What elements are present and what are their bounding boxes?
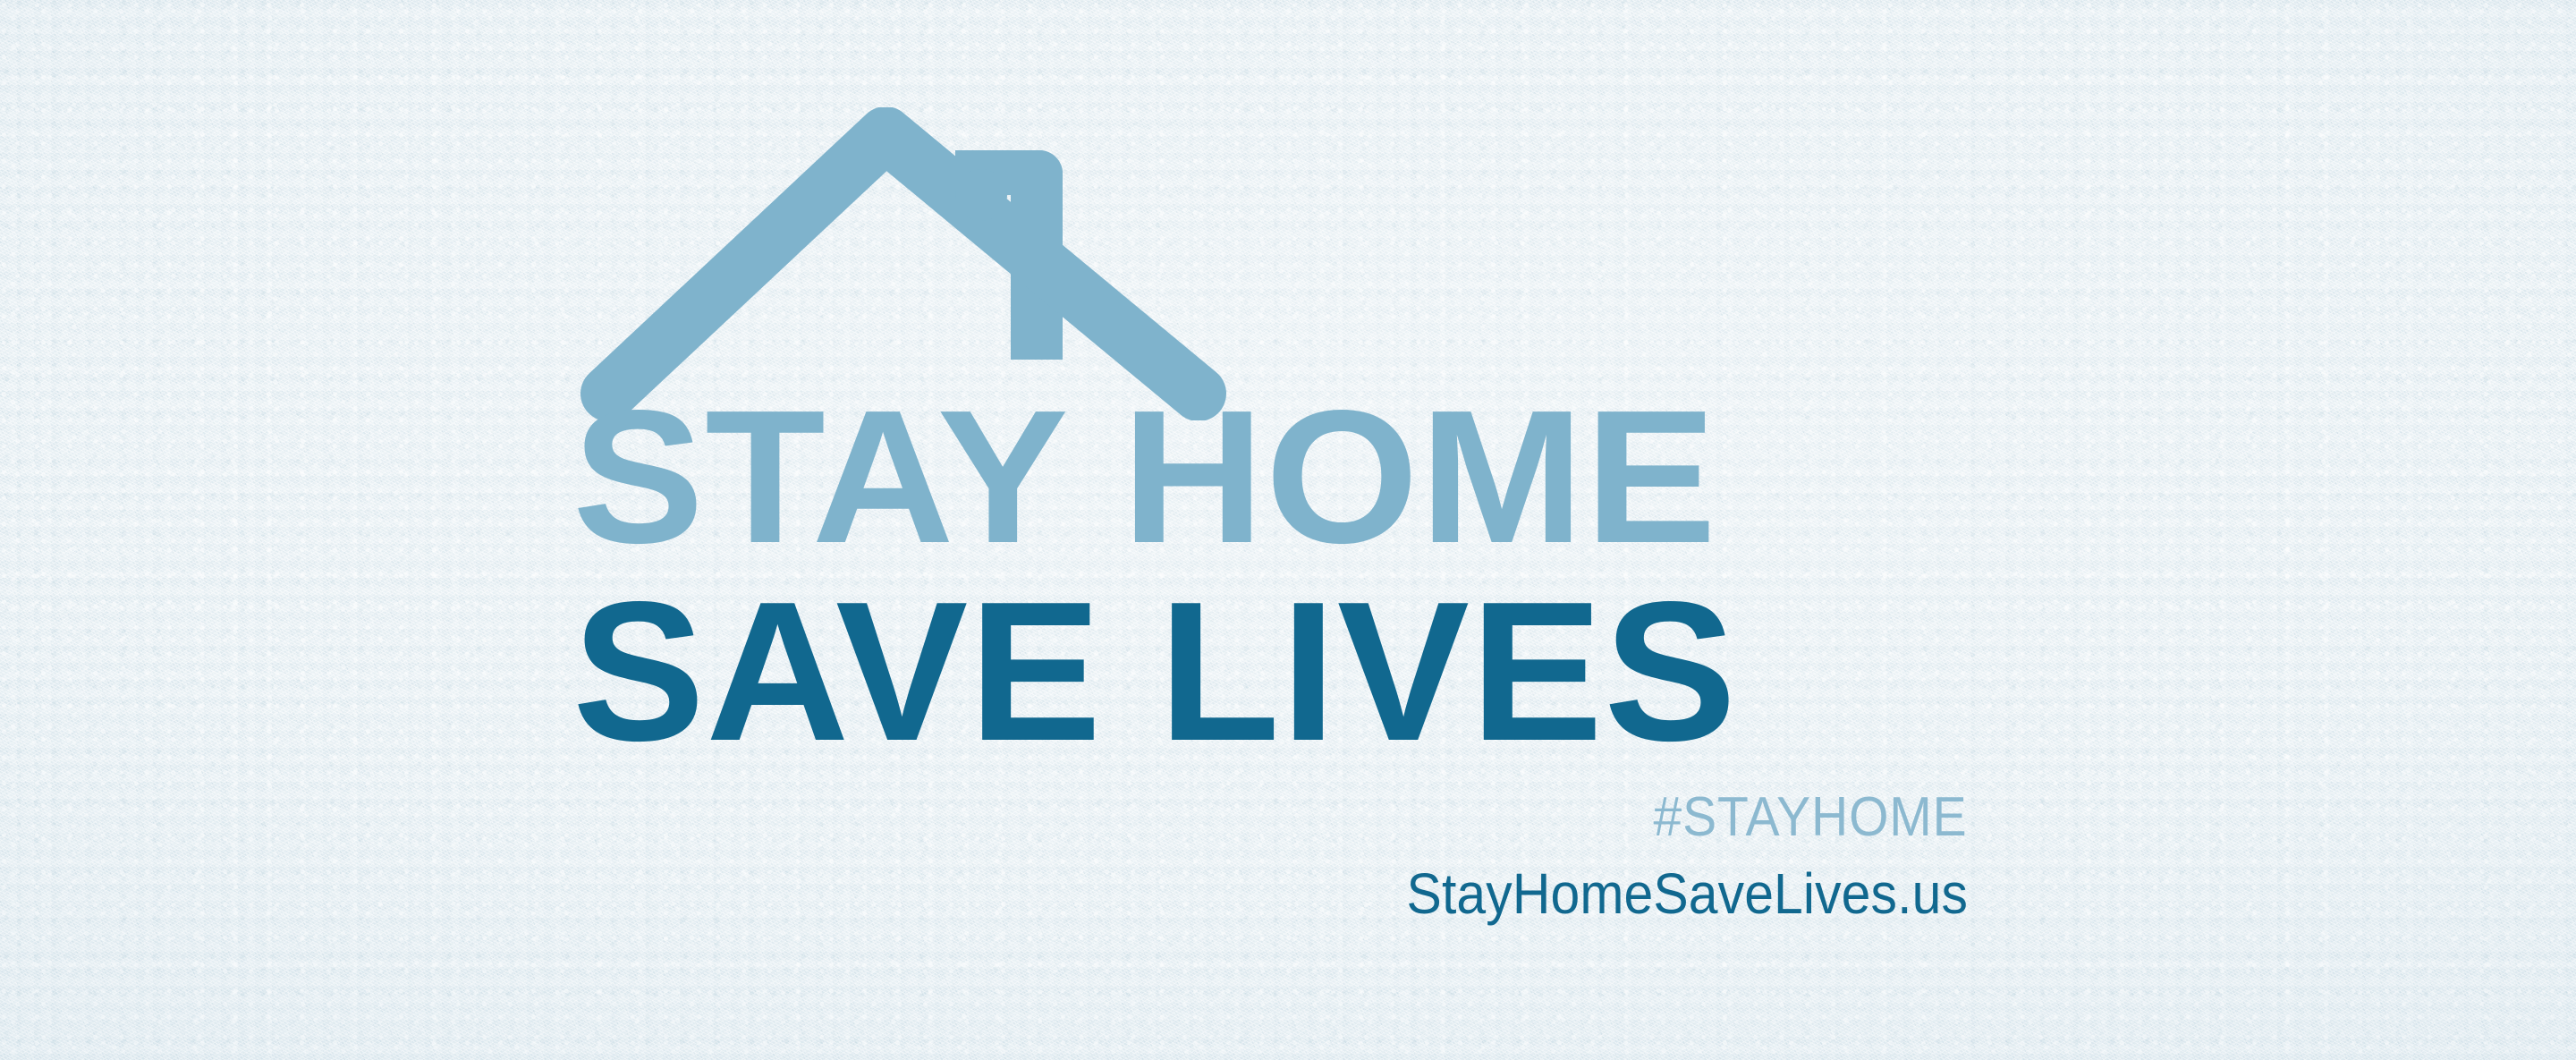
stay-home-save-lives-logo: STAY HOME SAVE LIVES #STAYHOME StayHomeS… (572, 107, 1977, 957)
headline-save-lives: SAVE LIVES (572, 595, 1968, 750)
poster-canvas: STAY HOME SAVE LIVES #STAYHOME StayHomeS… (0, 0, 2576, 1060)
headline-stay-home: STAY HOME (572, 403, 2023, 550)
hashtag-stayhome: #STAYHOME (1654, 785, 1968, 849)
website-url: StayHomeSaveLives.us (1407, 861, 1968, 927)
